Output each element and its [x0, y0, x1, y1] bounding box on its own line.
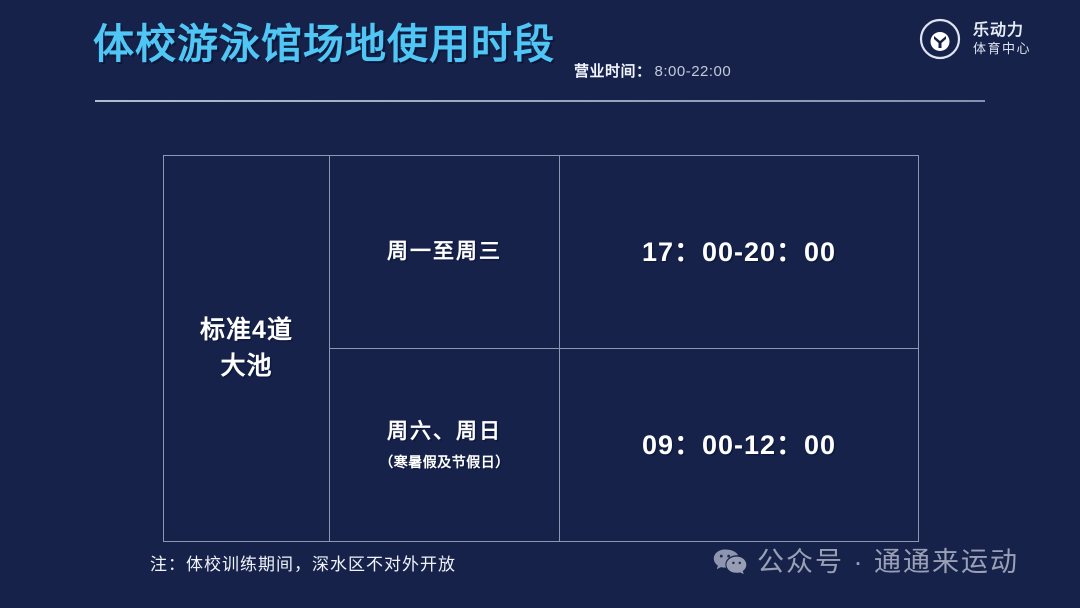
brand-logo: 乐动力 体育中心 [915, 14, 1031, 64]
venue-line-2: 大池 [220, 349, 272, 385]
page-title: 体校游泳馆场地使用时段 [93, 24, 555, 65]
header-divider [95, 100, 985, 102]
brand-name: 乐动力 [973, 22, 1031, 41]
days-text-row2: 周六、周日 [387, 418, 502, 446]
table-cell-days-row2: 周六、周日 （寒暑假及节假日） [330, 349, 560, 542]
time-text-row1: 17：00-20：00 [642, 236, 836, 268]
circle-badge-icon [915, 14, 965, 64]
business-hours-value: 8:00-22:00 [655, 63, 732, 80]
footer-note: 注：体校训练期间，深水区不对外开放 [150, 556, 456, 573]
business-hours: 营业时间：8:00-22:00 [574, 64, 731, 79]
table-cell-days-row1: 周一至周三 [330, 156, 560, 349]
wechat-icon [713, 548, 747, 576]
page-header: 体校游泳馆场地使用时段 营业时间：8:00-22:00 乐动力 体育中心 [0, 0, 1080, 110]
days-text-row1: 周一至周三 [387, 238, 502, 266]
table-cell-time-row1: 17：00-20：00 [560, 156, 918, 349]
venue-line-1: 标准4道 [200, 313, 293, 349]
brand-subtitle: 体育中心 [973, 41, 1031, 56]
time-text-row2: 09：00-12：00 [642, 429, 836, 461]
table-cell-time-row2: 09：00-12：00 [560, 349, 918, 542]
wechat-watermark: 公众号 · 通通来运动 [713, 548, 1019, 576]
schedule-table: 标准4道 大池 周一至周三 17：00-20：00 周六、周日 （寒暑假及节假日… [163, 155, 919, 542]
table-cell-venue: 标准4道 大池 [164, 156, 330, 541]
brand-logo-text: 乐动力 体育中心 [973, 22, 1031, 56]
days-subtext-row2: （寒暑假及节假日） [379, 453, 510, 471]
business-hours-label: 营业时间： [574, 63, 652, 80]
watermark-text: 公众号 · 通通来运动 [757, 549, 1019, 576]
